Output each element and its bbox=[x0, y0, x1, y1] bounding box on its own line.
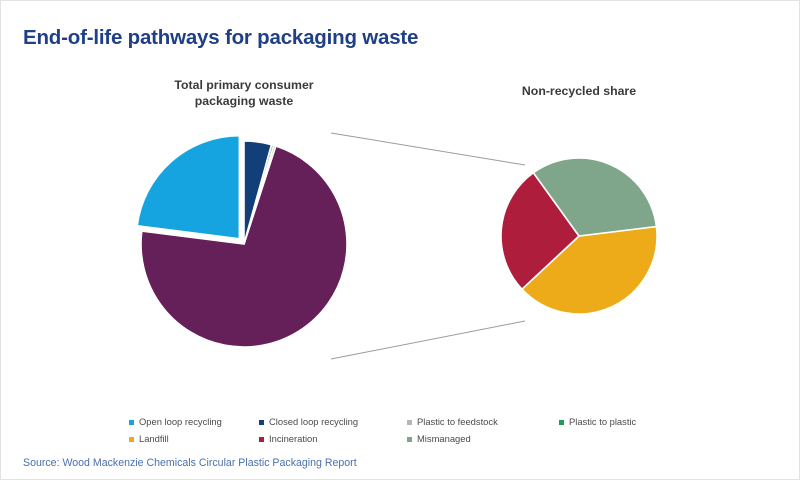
legend-label-plastic-to-feedstock: Plastic to feedstock bbox=[417, 416, 498, 427]
legend-swatch-plastic-to-feedstock bbox=[407, 420, 412, 425]
legend-label-landfill: Landfill bbox=[139, 433, 169, 444]
legend-swatch-landfill bbox=[129, 437, 134, 442]
callout-connector-lines bbox=[331, 133, 525, 359]
legend-item-mismanaged[interactable]: Mismanaged bbox=[407, 433, 559, 444]
callout-line-2 bbox=[331, 321, 525, 359]
legend-label-closed-loop-recycling: Closed loop recycling bbox=[269, 416, 358, 427]
chart-legend: Open loop recyclingClosed loop recycling… bbox=[129, 413, 689, 447]
legend-item-open-loop-recycling[interactable]: Open loop recycling bbox=[129, 416, 259, 427]
callout-line-1 bbox=[331, 133, 525, 165]
legend-swatch-incineration bbox=[259, 437, 264, 442]
source-note: Source: Wood Mackenzie Chemicals Circula… bbox=[23, 457, 357, 469]
legend-swatch-open-loop-recycling bbox=[129, 420, 134, 425]
legend-swatch-plastic-to-plastic bbox=[559, 420, 564, 425]
legend-label-open-loop-recycling: Open loop recycling bbox=[139, 416, 222, 427]
legend-item-plastic-to-feedstock[interactable]: Plastic to feedstock bbox=[407, 416, 559, 427]
legend-label-plastic-to-plastic: Plastic to plastic bbox=[569, 416, 636, 427]
legend-swatch-closed-loop-recycling bbox=[259, 420, 264, 425]
pie-slice-open-loop-recycling[interactable] bbox=[137, 136, 239, 239]
legend-item-incineration[interactable]: Incineration bbox=[259, 433, 407, 444]
legend-label-mismanaged: Mismanaged bbox=[417, 433, 471, 444]
legend-swatch-mismanaged bbox=[407, 437, 412, 442]
pie-chart-non-recycled-share bbox=[501, 158, 657, 314]
pie-chart-plot-area bbox=[1, 1, 800, 480]
chart-canvas: End-of-life pathways for packaging waste… bbox=[0, 0, 800, 480]
legend-item-landfill[interactable]: Landfill bbox=[129, 433, 259, 444]
legend-item-closed-loop-recycling[interactable]: Closed loop recycling bbox=[259, 416, 407, 427]
legend-item-plastic-to-plastic[interactable]: Plastic to plastic bbox=[559, 416, 689, 427]
legend-label-incineration: Incineration bbox=[269, 433, 317, 444]
pie-chart-total-waste bbox=[137, 136, 347, 347]
